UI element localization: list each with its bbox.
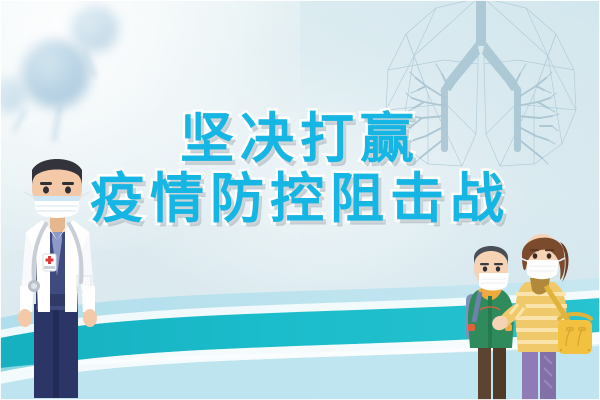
doctor-illustration: [0, 136, 116, 400]
poster-canvas: 坚决打赢 疫情防控阻击战: [0, 0, 600, 400]
molecule-sphere-icon: [22, 40, 90, 108]
family-illustration: [460, 228, 600, 400]
lungs-icon: [366, 0, 596, 184]
molecule-sphere-icon: [72, 6, 118, 52]
